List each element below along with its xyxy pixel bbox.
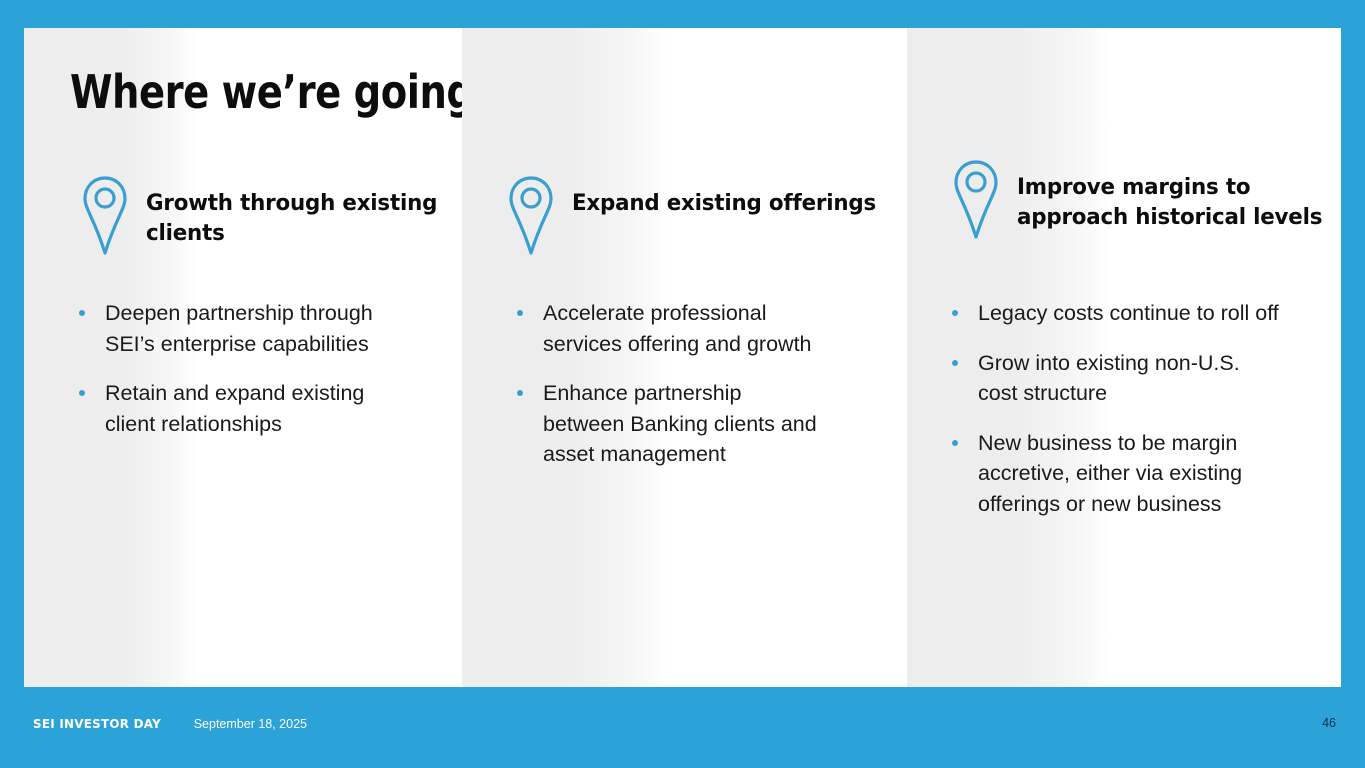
list-item: Retain and expand existing client relati… xyxy=(76,378,376,439)
footer-left-group: SEI INVESTOR DAY September 18, 2025 xyxy=(33,716,307,731)
list-item: Enhance partnership between Banking clie… xyxy=(514,378,824,470)
bullet-dot-icon xyxy=(79,310,85,316)
content-card: Where we’re going. Growth through existi… xyxy=(24,28,1341,687)
bullet-dot-icon xyxy=(952,360,958,366)
list-item-text: Legacy costs continue to roll off xyxy=(978,301,1279,325)
bullet-dot-icon xyxy=(517,390,523,396)
bullet-dot-icon xyxy=(517,310,523,316)
list-item-text: Grow into existing non-U.S. cost structu… xyxy=(978,351,1240,406)
column-2-header: Expand existing offerings xyxy=(508,175,892,257)
column-3-header: Improve margins to approach historical l… xyxy=(953,159,1341,241)
footer-date-label: September 18, 2025 xyxy=(194,717,307,731)
list-item: Grow into existing non-U.S. cost structu… xyxy=(949,348,1279,409)
column-3: Improve margins to approach historical l… xyxy=(907,28,1341,687)
list-item-text: Retain and expand existing client relati… xyxy=(105,381,364,436)
list-item-text: Accelerate professional services offerin… xyxy=(543,301,812,356)
column-1-header: Growth through existing clients xyxy=(82,175,462,257)
column-2: Expand existing offerings Accelerate pro… xyxy=(462,28,907,687)
list-item-text: Enhance partnership between Banking clie… xyxy=(543,381,817,466)
slide-footer: SEI INVESTOR DAY September 18, 2025 46 xyxy=(0,687,1365,768)
list-item: Deepen partnership through SEI’s enterpr… xyxy=(76,298,376,359)
column-1-heading: Growth through existing clients xyxy=(146,175,446,248)
column-1: Where we’re going. Growth through existi… xyxy=(24,28,462,687)
slide-canvas: Where we’re going. Growth through existi… xyxy=(0,0,1365,768)
list-item: New business to be margin accretive, eit… xyxy=(949,428,1279,520)
page-title: Where we’re going. xyxy=(70,69,488,115)
bullet-dot-icon xyxy=(79,390,85,396)
column-3-heading: Improve margins to approach historical l… xyxy=(1017,159,1325,232)
footer-brand-label: SEI INVESTOR DAY xyxy=(33,716,161,731)
list-item-text: New business to be margin accretive, eit… xyxy=(978,431,1242,516)
map-pin-icon xyxy=(953,159,999,241)
page-number: 46 xyxy=(1322,716,1336,730)
column-2-heading: Expand existing offerings xyxy=(572,175,876,218)
column-1-bullet-list: Deepen partnership through SEI’s enterpr… xyxy=(76,298,376,439)
list-item-text: Deepen partnership through SEI’s enterpr… xyxy=(105,301,373,356)
map-pin-icon xyxy=(82,175,128,257)
list-item: Legacy costs continue to roll off xyxy=(949,298,1279,329)
column-2-bullet-list: Accelerate professional services offerin… xyxy=(514,298,824,470)
bullet-dot-icon xyxy=(952,310,958,316)
page-title-text: Where we’re going xyxy=(70,65,473,119)
bullet-dot-icon xyxy=(952,440,958,446)
list-item: Accelerate professional services offerin… xyxy=(514,298,824,359)
column-3-bullet-list: Legacy costs continue to roll off Grow i… xyxy=(949,298,1279,519)
map-pin-icon xyxy=(508,175,554,257)
